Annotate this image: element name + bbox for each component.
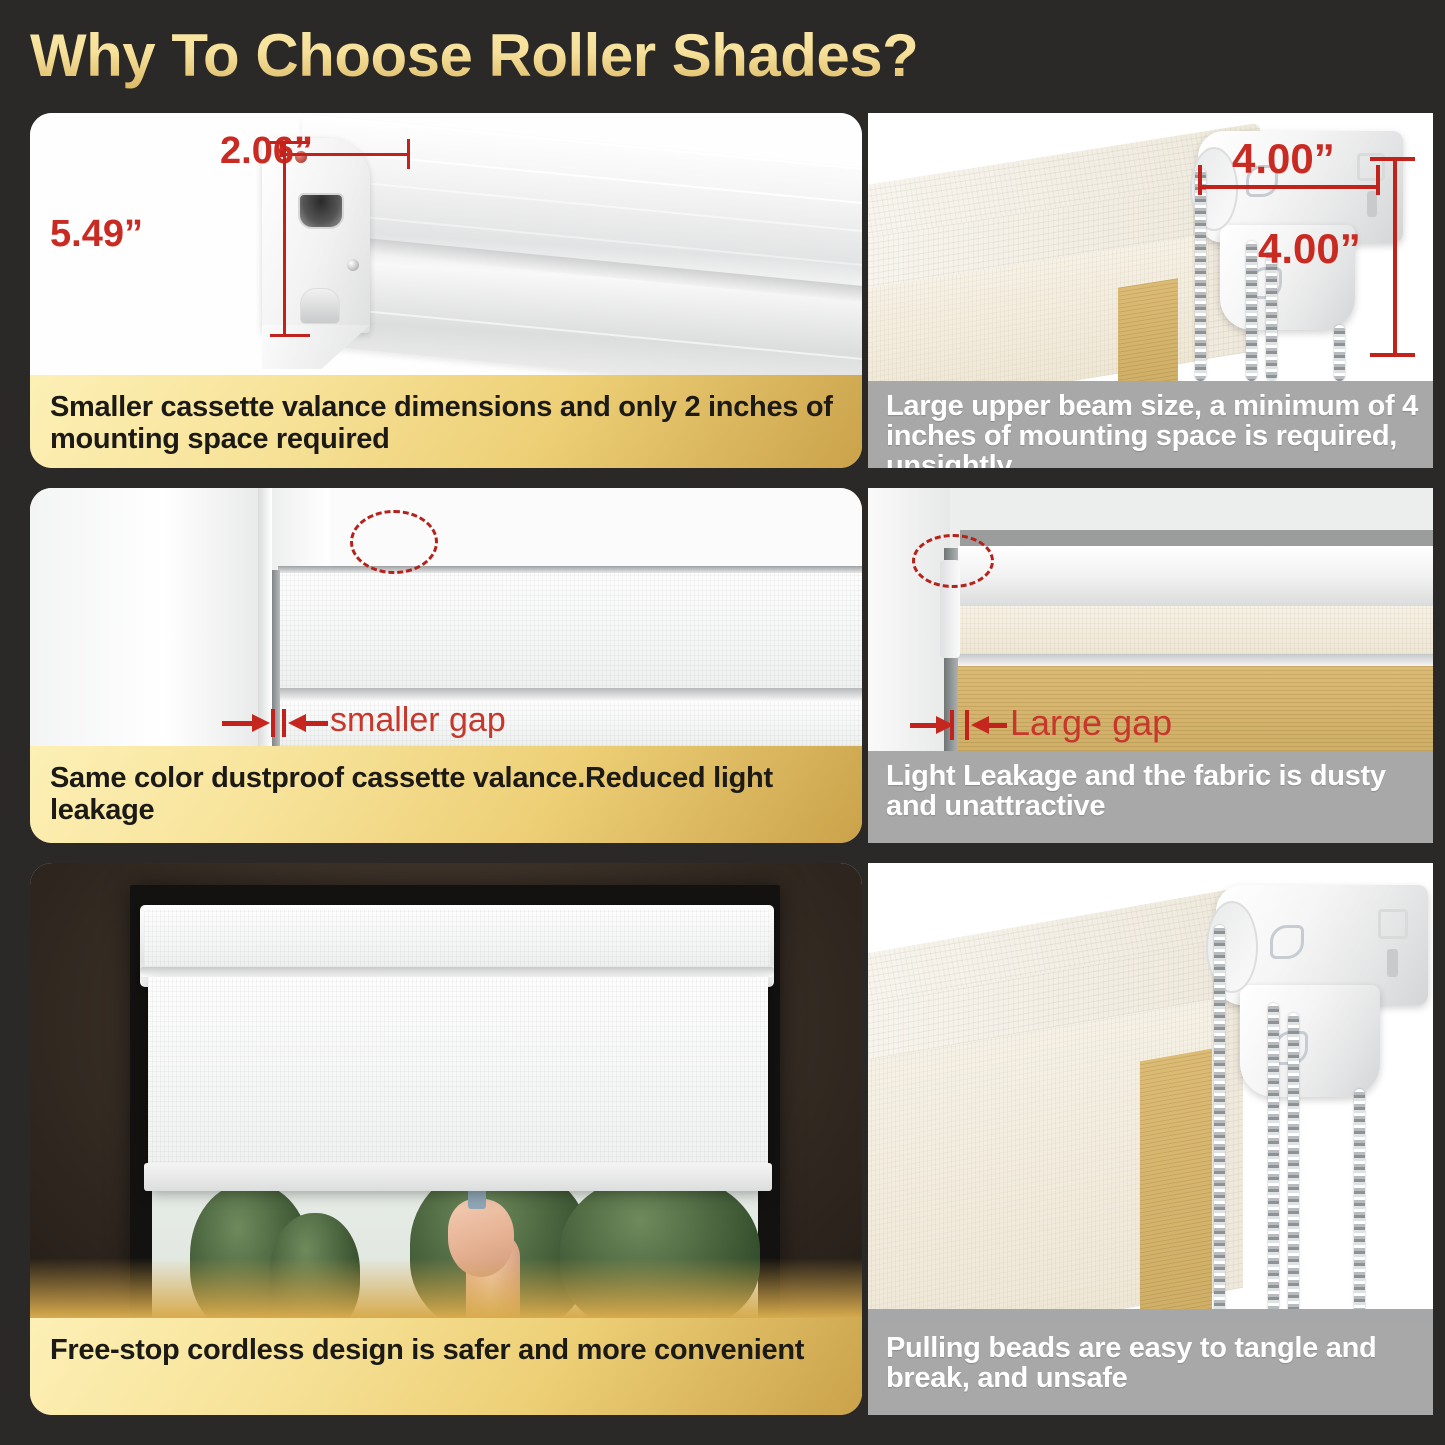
gap-tick-left	[271, 709, 275, 737]
panel-dustproof-cassette: smaller gap Same color dustproof cassett…	[30, 488, 862, 843]
bead-chain	[1195, 169, 1206, 381]
shade-fabric-tan	[1140, 1049, 1212, 1323]
cassette-valance	[278, 568, 862, 696]
beam-fabric-wrap	[958, 606, 1433, 654]
large-beam-photo: 4.00” 4.00”	[868, 113, 1433, 381]
panel-cassette-dimensions: 2.06” 5.49” Smaller cassette valance dim…	[30, 113, 862, 468]
cordless-design-photo	[30, 863, 862, 1318]
gap-tick-right	[282, 709, 286, 737]
callout-circle	[912, 534, 994, 588]
valance-divider	[278, 688, 862, 702]
bead-chain	[1214, 925, 1225, 1323]
panel-pulling-beads: Pulling beads are easy to tangle and bre…	[868, 863, 1433, 1415]
panel-caption: Smaller cassette valance dimensions and …	[30, 375, 862, 468]
bottom-rail-edge	[948, 654, 1433, 666]
dustproof-cassette-photo: smaller gap	[30, 488, 862, 746]
beam-top	[958, 546, 1433, 608]
panel-caption: Pulling beads are easy to tangle and bre…	[868, 1323, 1433, 1415]
bead-chain	[1334, 325, 1345, 381]
beam-width-tick-right	[1376, 165, 1380, 195]
casing-edge	[258, 488, 272, 746]
bracket-lug-icon	[1378, 909, 1408, 939]
gap-arrow-shaft-right	[306, 721, 328, 726]
gap-tick-right	[965, 710, 969, 740]
shade-fabric	[148, 977, 768, 1187]
gap-arrow-shaft-right	[989, 723, 1007, 728]
bead-chain	[1268, 1003, 1279, 1323]
beam-width-line	[1198, 185, 1380, 189]
large-gap-label: Large gap	[1010, 702, 1172, 744]
width-dimension-label: 2.06”	[220, 130, 313, 173]
beam-height-tick-bottom	[1370, 353, 1415, 357]
infographic-root: Why To Choose Roller Shades? 2.06”	[0, 0, 1445, 1445]
page-title: Why To Choose Roller Shades?	[30, 20, 1030, 92]
window-casing	[868, 488, 950, 751]
panel-caption: Same color dustproof cassette valance.Re…	[30, 746, 862, 843]
bracket-arrow-icon	[1270, 925, 1304, 959]
height-dimension-label: 5.49”	[50, 213, 143, 256]
tensioner-slot-icon	[300, 288, 340, 324]
bracket-notch-icon	[1387, 949, 1398, 977]
beam-width-tick-left	[1198, 165, 1202, 195]
floor-glow	[30, 1258, 862, 1318]
height-dimension-tick-top	[270, 141, 310, 144]
bead-chain	[1354, 1089, 1365, 1323]
valance-top-lip	[278, 566, 862, 573]
roller-bracket-lower	[1240, 985, 1380, 1097]
panel-large-upper-beam: 4.00” 4.00” Large upper beam size, a min…	[868, 113, 1433, 468]
panel-caption: Large upper beam size, a minimum of 4 in…	[868, 381, 1433, 468]
gap-arrow-head-right	[971, 716, 989, 734]
height-dimension-line	[283, 141, 286, 337]
gap-arrow-head-left	[252, 714, 270, 732]
panel-caption: Free-stop cordless design is safer and m…	[30, 1318, 862, 1415]
beam-height-label: 4.00”	[1258, 225, 1361, 273]
roller-slot-icon	[298, 193, 344, 229]
smaller-gap-label: smaller gap	[330, 701, 506, 740]
photo-baseline	[868, 1309, 1433, 1323]
beam-height-line	[1393, 157, 1397, 357]
pulling-beads-photo	[868, 863, 1433, 1323]
beam-width-label: 4.00”	[1232, 135, 1335, 183]
width-dimension-tick-right	[407, 139, 410, 169]
bead-chain	[1246, 241, 1257, 381]
screw-icon	[347, 259, 359, 271]
gap-arrow-head-right	[288, 714, 306, 732]
panel-caption: Light Leakage and the fabric is dusty an…	[868, 751, 1433, 843]
beam-height-tick-top	[1370, 157, 1415, 161]
bead-chain	[1288, 1013, 1299, 1323]
valance-lip	[140, 967, 774, 977]
height-dimension-tick-bottom	[270, 334, 310, 337]
gap-tick-left	[950, 710, 954, 740]
valance-face	[144, 909, 770, 967]
panel-cordless-design: Free-stop cordless design is safer and m…	[30, 863, 862, 1415]
callout-circle	[350, 510, 438, 574]
light-leakage-photo: Large gap	[868, 488, 1433, 751]
bottom-rail	[144, 1163, 772, 1191]
cassette-dimensions-photo: 2.06” 5.49”	[30, 113, 862, 375]
panel-light-leakage: Large gap Light Leakage and the fabric i…	[868, 488, 1433, 843]
shade-fabric-tan	[1118, 278, 1178, 381]
